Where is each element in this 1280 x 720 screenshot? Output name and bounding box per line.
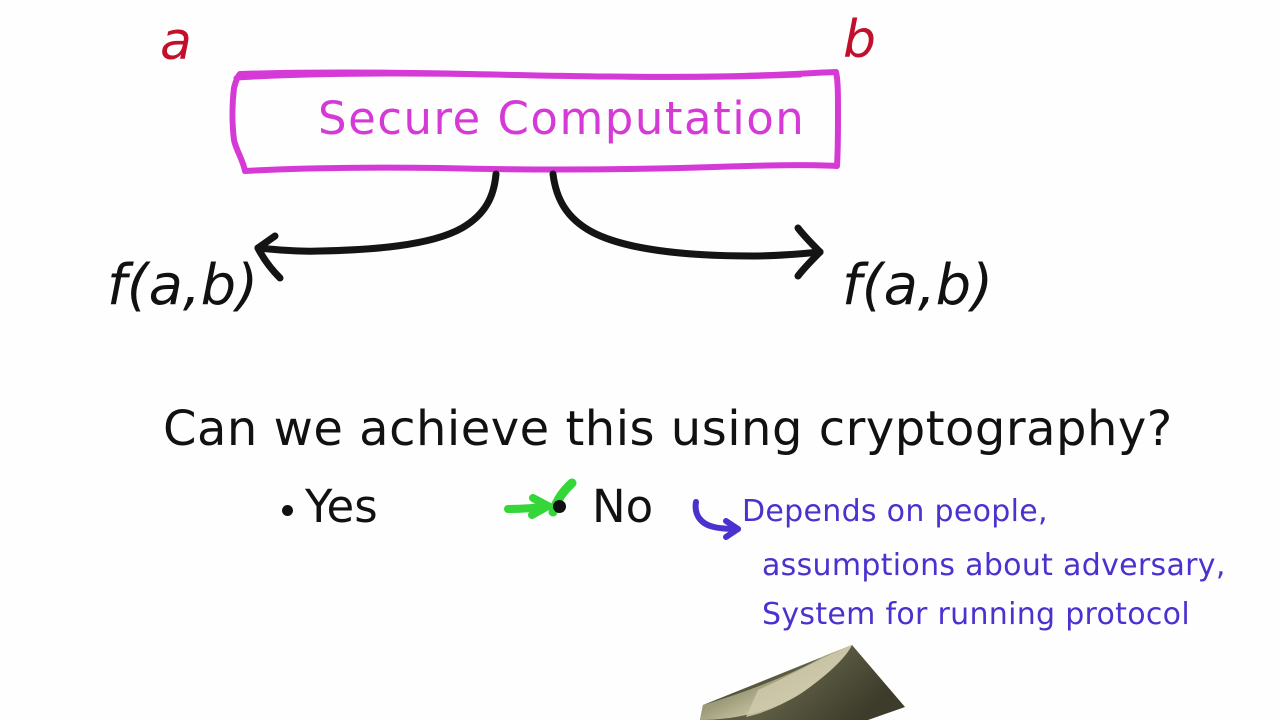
- note-line-1: Depends on people,: [742, 497, 1048, 527]
- note-line-3: System for running protocol: [762, 600, 1190, 630]
- answer-option-no[interactable]: No: [592, 484, 653, 529]
- right-output-arrow: [553, 174, 820, 276]
- output-right-fab: f(a,b): [842, 258, 993, 314]
- stylus-pointer: [700, 645, 905, 720]
- blue-elbow-arrow: [696, 502, 738, 537]
- bullet-no-icon: [553, 500, 566, 513]
- output-left-fab: f(a,b): [107, 258, 258, 314]
- answer-option-yes[interactable]: Yes: [305, 484, 378, 529]
- question-text: Can we achieve this using cryptography?: [163, 405, 1173, 453]
- bullet-yes-icon: [282, 505, 293, 516]
- left-output-arrow: [258, 174, 496, 278]
- secure-computation-box-title: Secure Computation: [318, 96, 805, 141]
- input-label-a: a: [160, 16, 192, 68]
- note-line-2: assumptions about adversary,: [762, 551, 1226, 581]
- input-label-b: b: [843, 14, 876, 66]
- whiteboard-canvas: a b Secure Computation f(a,b) f(a,b) Can…: [0, 0, 1280, 720]
